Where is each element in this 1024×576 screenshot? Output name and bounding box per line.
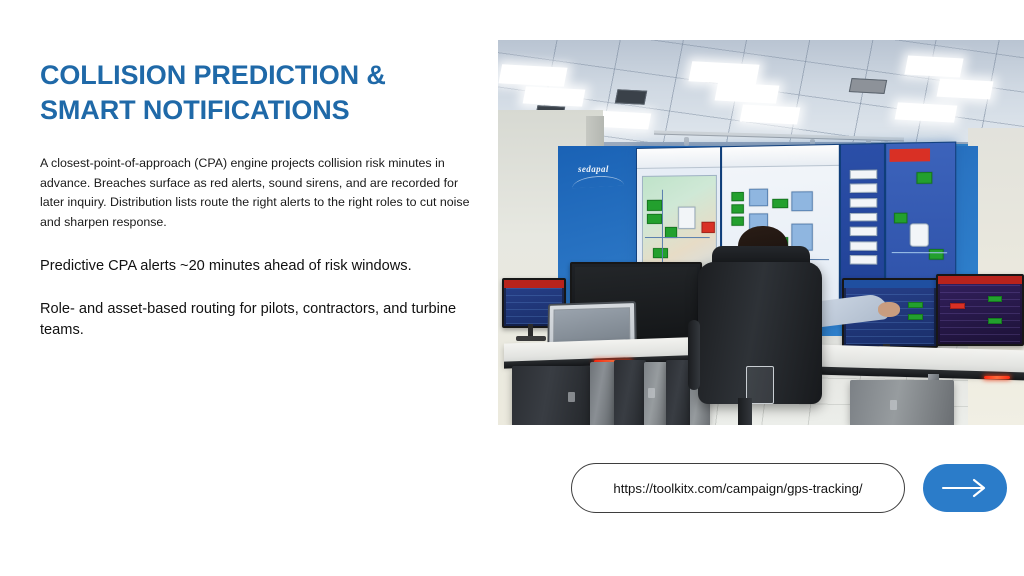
status-tag xyxy=(647,213,662,224)
status-tag xyxy=(988,318,1002,324)
highlight-line-2: Role- and asset-based routing for pilots… xyxy=(40,299,472,340)
ceiling-light-icon xyxy=(498,64,567,86)
trend-bar xyxy=(850,241,877,250)
ceiling-light-icon xyxy=(895,102,958,122)
trend-bar xyxy=(850,184,877,194)
monitor-header xyxy=(844,280,936,288)
cabinet-vent-slot xyxy=(890,400,897,410)
alert-banner xyxy=(889,149,930,162)
desk-monitor xyxy=(936,274,1024,346)
status-tag xyxy=(665,227,678,238)
block-element xyxy=(750,188,768,206)
ceiling-light-icon xyxy=(937,79,994,100)
campaign-url-text: https://toolkitx.com/campaign/gps-tracki… xyxy=(613,481,862,496)
screen-titlebar xyxy=(722,145,839,167)
pipe-line xyxy=(662,190,663,269)
console-cabinet xyxy=(512,366,590,425)
status-tag xyxy=(893,212,907,223)
status-tag xyxy=(773,199,788,208)
headline-line-2: SMART NOTIFICATIONS xyxy=(40,95,350,125)
ceiling-light-icon xyxy=(904,56,963,78)
status-tag xyxy=(731,204,743,213)
trend-bar xyxy=(850,212,877,221)
trend-bar xyxy=(850,227,877,236)
track-light-icon xyxy=(684,137,689,146)
operator-hand xyxy=(878,302,900,317)
trend-bar xyxy=(850,198,877,207)
monitor-alert-header xyxy=(504,280,564,288)
wall-brand-text: sedapal xyxy=(578,164,609,174)
status-tag xyxy=(917,172,933,183)
cabinet-vent-slot xyxy=(648,388,655,398)
cabinet-vent-slot xyxy=(568,392,575,402)
ceiling-light-icon xyxy=(715,82,780,103)
slide-canvas: COLLISION PREDICTION & SMART NOTIFICATIO… xyxy=(0,0,1024,576)
console-cabinet xyxy=(614,360,646,425)
status-tag xyxy=(731,217,743,226)
monitor-base xyxy=(516,336,546,341)
trend-bar xyxy=(850,169,877,179)
status-tag xyxy=(653,248,667,259)
chair-post xyxy=(738,398,752,425)
photo-scene: sedapal xyxy=(498,40,1024,425)
highlight-line-1: Predictive CPA alerts ~20 minutes ahead … xyxy=(40,256,472,277)
status-tag xyxy=(678,206,695,229)
text-column: COLLISION PREDICTION & SMART NOTIFICATIO… xyxy=(40,58,480,340)
status-tag xyxy=(988,296,1002,302)
status-tag xyxy=(731,192,743,201)
page-title: COLLISION PREDICTION & SMART NOTIFICATIO… xyxy=(40,58,480,128)
trend-bar xyxy=(850,255,877,264)
ceiling-vent-icon xyxy=(615,89,647,105)
status-tag xyxy=(929,249,944,260)
pipe-line xyxy=(892,252,947,253)
pipe-line xyxy=(645,237,710,238)
block-element xyxy=(792,191,813,211)
desk-led-strip xyxy=(984,376,1010,379)
screen-titlebar xyxy=(637,147,720,168)
status-tag xyxy=(908,302,923,308)
cta-arrow-button[interactable] xyxy=(923,464,1007,512)
control-room-photo: sedapal xyxy=(498,40,1024,425)
console-cabinet xyxy=(850,380,954,425)
ceiling-light-icon xyxy=(740,104,801,124)
campaign-url-pill[interactable]: https://toolkitx.com/campaign/gps-tracki… xyxy=(571,463,905,513)
chair-armrest xyxy=(688,320,700,390)
ceiling-vent-icon xyxy=(849,78,887,94)
alert-tag xyxy=(701,222,715,233)
ceiling-light-icon xyxy=(688,61,759,85)
console-cabinet xyxy=(590,362,616,425)
alert-tag xyxy=(950,303,965,309)
status-tag xyxy=(908,314,923,320)
cta-row: https://toolkitx.com/campaign/gps-tracki… xyxy=(571,463,1007,513)
arrow-right-icon xyxy=(940,477,990,499)
tank-shape xyxy=(910,223,929,247)
headline-line-1: COLLISION PREDICTION & xyxy=(40,60,386,90)
status-tag xyxy=(647,200,662,211)
ceiling-light-icon xyxy=(523,86,586,106)
monitor-screen xyxy=(940,278,1020,342)
body-paragraph: A closest-point-of-approach (CPA) engine… xyxy=(40,154,477,232)
monitor-alert-header xyxy=(938,276,1022,284)
